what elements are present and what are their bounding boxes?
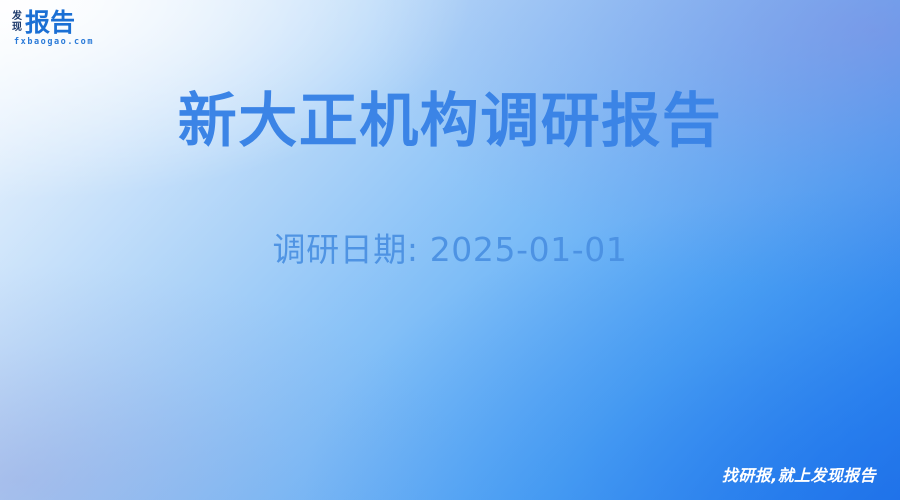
logo-stacked-chars: 发 现 [12,11,22,33]
logo-domain-text: fxbaogao.com [14,37,94,47]
report-cover: 发 现 报告 fxbaogao.com 新大正机构调研报告 调研日期: 2025… [0,0,900,500]
logo-char-fa: 发 [12,11,22,22]
logo-wordmark: 报告 [25,10,75,35]
headline-block: 新大正机构调研报告 [0,84,900,158]
page-title: 新大正机构调研报告 [40,84,860,158]
site-logo[interactable]: 发 现 报告 fxbaogao.com [12,10,152,54]
survey-date-text: 调研日期: 2025-01-01 [0,228,900,272]
logo-mark: 发 现 报告 [12,10,75,35]
logo-char-xian: 现 [12,22,22,33]
footer-tagline: 找研报,就上发现报告 [722,466,876,486]
subtitle-block: 调研日期: 2025-01-01 [0,228,900,272]
